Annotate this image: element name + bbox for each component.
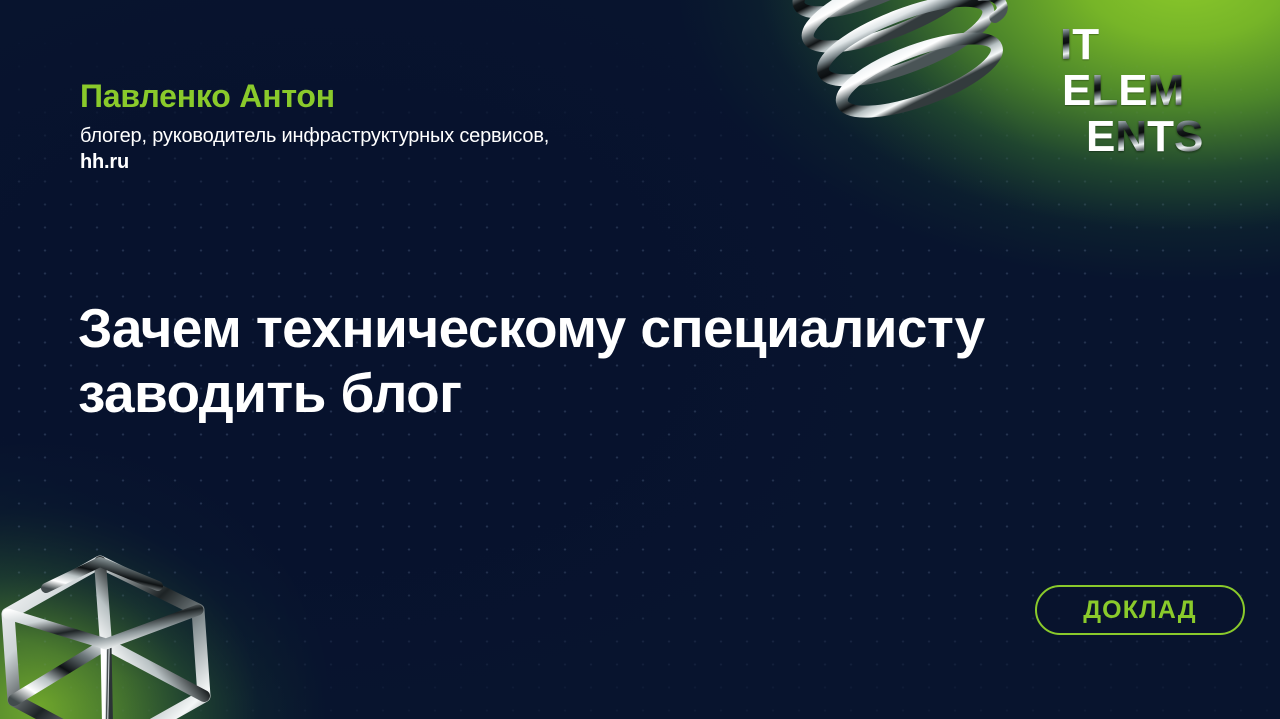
session-type-badge[interactable]: ДОКЛАД (1035, 585, 1245, 635)
slide-title-line-2: заводить блог (78, 361, 1258, 426)
logo-row-3: ENTS (1086, 114, 1266, 160)
logo-row-2: ELEM (1062, 68, 1266, 114)
logo-letter: S (1174, 114, 1203, 160)
logo-letter: L (1091, 68, 1118, 114)
logo-letter: E (1118, 68, 1147, 114)
logo-row-1: IT (1060, 22, 1266, 68)
logo-letter: M (1148, 68, 1185, 114)
logo-letter: E (1086, 114, 1115, 160)
speaker-organization: hh.ru (80, 149, 840, 175)
chrome-polyhedron-icon (0, 548, 250, 719)
speaker-block: Павленко Антон блогер, руководитель инфр… (80, 78, 840, 176)
session-type-badge-label: ДОКЛАД (1083, 596, 1196, 625)
slide-title-line-1: Зачем техническому специалисту (78, 296, 1258, 361)
it-elements-logo: IT ELEM ENTS (1056, 22, 1266, 182)
speaker-role: блогер, руководитель инфраструктурных се… (80, 123, 840, 149)
presentation-slide: Павленко Антон блогер, руководитель инфр… (0, 0, 1280, 719)
logo-letter: T (1072, 22, 1099, 68)
logo-letter: I (1060, 22, 1072, 68)
logo-letter: E (1062, 68, 1091, 114)
speaker-name: Павленко Антон (80, 78, 840, 116)
logo-letter: T (1147, 114, 1174, 160)
slide-title: Зачем техническому специалисту заводить … (78, 296, 1258, 426)
logo-letter: N (1115, 114, 1147, 160)
